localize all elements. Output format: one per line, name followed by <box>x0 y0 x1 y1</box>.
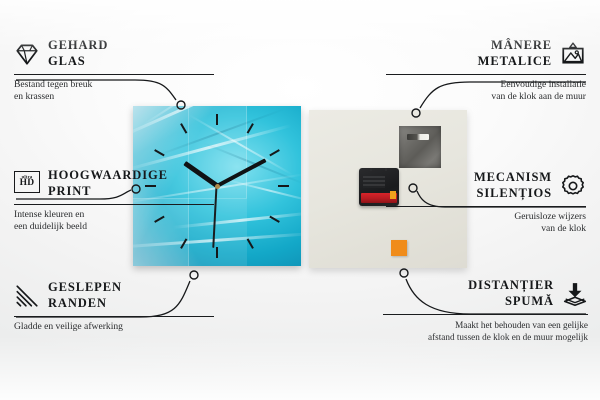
feature-description: Gladde en veilige afwerking <box>14 321 214 334</box>
feature-title: DISTANȚIERSPUMĂ <box>468 278 554 310</box>
feature-title: GEHARDGLAS <box>48 38 108 70</box>
clock-tick <box>216 114 218 186</box>
foam-spacer-pad <box>391 240 407 256</box>
feature-description: Bestand tegen breuken krassen <box>14 79 214 104</box>
feature-mecanism-silentios: MECANISMSILENȚIOS Geruisloze wijzersvan … <box>386 170 586 236</box>
ultra-hd-icon: ultra HD <box>14 171 40 197</box>
feature-geslepen-randen: GESLEPENRANDEN Gladde en veilige afwerki… <box>14 280 214 333</box>
feature-hoogwaardige-print: ultra HD HOOGWAARDIGEPRINT Intense kleur… <box>14 168 214 234</box>
mechanism-knob <box>370 168 387 171</box>
divider <box>386 206 586 207</box>
feature-description: Eenvoudige installatievan de klok aan de… <box>386 79 586 104</box>
divider <box>386 74 586 75</box>
feature-title: MÂNEREMETALICE <box>478 38 552 70</box>
metal-hanger-plate <box>399 126 441 168</box>
feature-title: GESLEPENRANDEN <box>48 280 122 312</box>
beveled-edges-icon <box>14 283 40 309</box>
mechanism-grill <box>363 176 385 188</box>
divider <box>14 74 214 75</box>
feature-header: ultra HD HOOGWAARDIGEPRINT <box>14 168 214 200</box>
feature-header: MÂNEREMETALICE <box>386 38 586 70</box>
picture-frame-icon <box>560 41 586 67</box>
hanger-slot <box>407 134 429 140</box>
feature-distantier-spuma: DISTANȚIERSPUMĂ Maakt het behouden van e… <box>383 278 588 343</box>
feature-header: MECANISMSILENȚIOS <box>386 170 586 202</box>
clock-center-hub <box>215 184 220 189</box>
feature-manere-metalice: MÂNEREMETALICE Eenvoudige installatievan… <box>386 38 586 104</box>
divider <box>14 204 214 205</box>
feature-gehard-glas: GEHARDGLAS Bestand tegen breuken krassen <box>14 38 214 104</box>
spacer-arrow-icon <box>562 281 588 307</box>
divider <box>14 316 214 317</box>
feature-title: MECANISMSILENȚIOS <box>474 170 552 202</box>
ultra-hd-large-text: HD <box>20 179 35 189</box>
divider <box>383 314 588 315</box>
infographic-canvas: GEHARDGLAS Bestand tegen breuken krassen… <box>0 0 600 400</box>
diamond-icon <box>14 41 40 67</box>
feature-title: HOOGWAARDIGEPRINT <box>48 168 168 200</box>
leader-endpoint <box>190 271 198 279</box>
gear-icon <box>560 173 586 199</box>
feature-description: Intense kleuren eneen duidelijk beeld <box>14 209 214 234</box>
feature-header: GEHARDGLAS <box>14 38 214 70</box>
feature-header: DISTANȚIERSPUMĂ <box>383 278 588 310</box>
feature-header: GESLEPENRANDEN <box>14 280 214 312</box>
feature-description: Geruisloze wijzersvan de klok <box>386 211 586 236</box>
clock-tick <box>217 185 289 187</box>
feature-description: Maakt het behouden van een gelijkeafstan… <box>383 319 588 343</box>
